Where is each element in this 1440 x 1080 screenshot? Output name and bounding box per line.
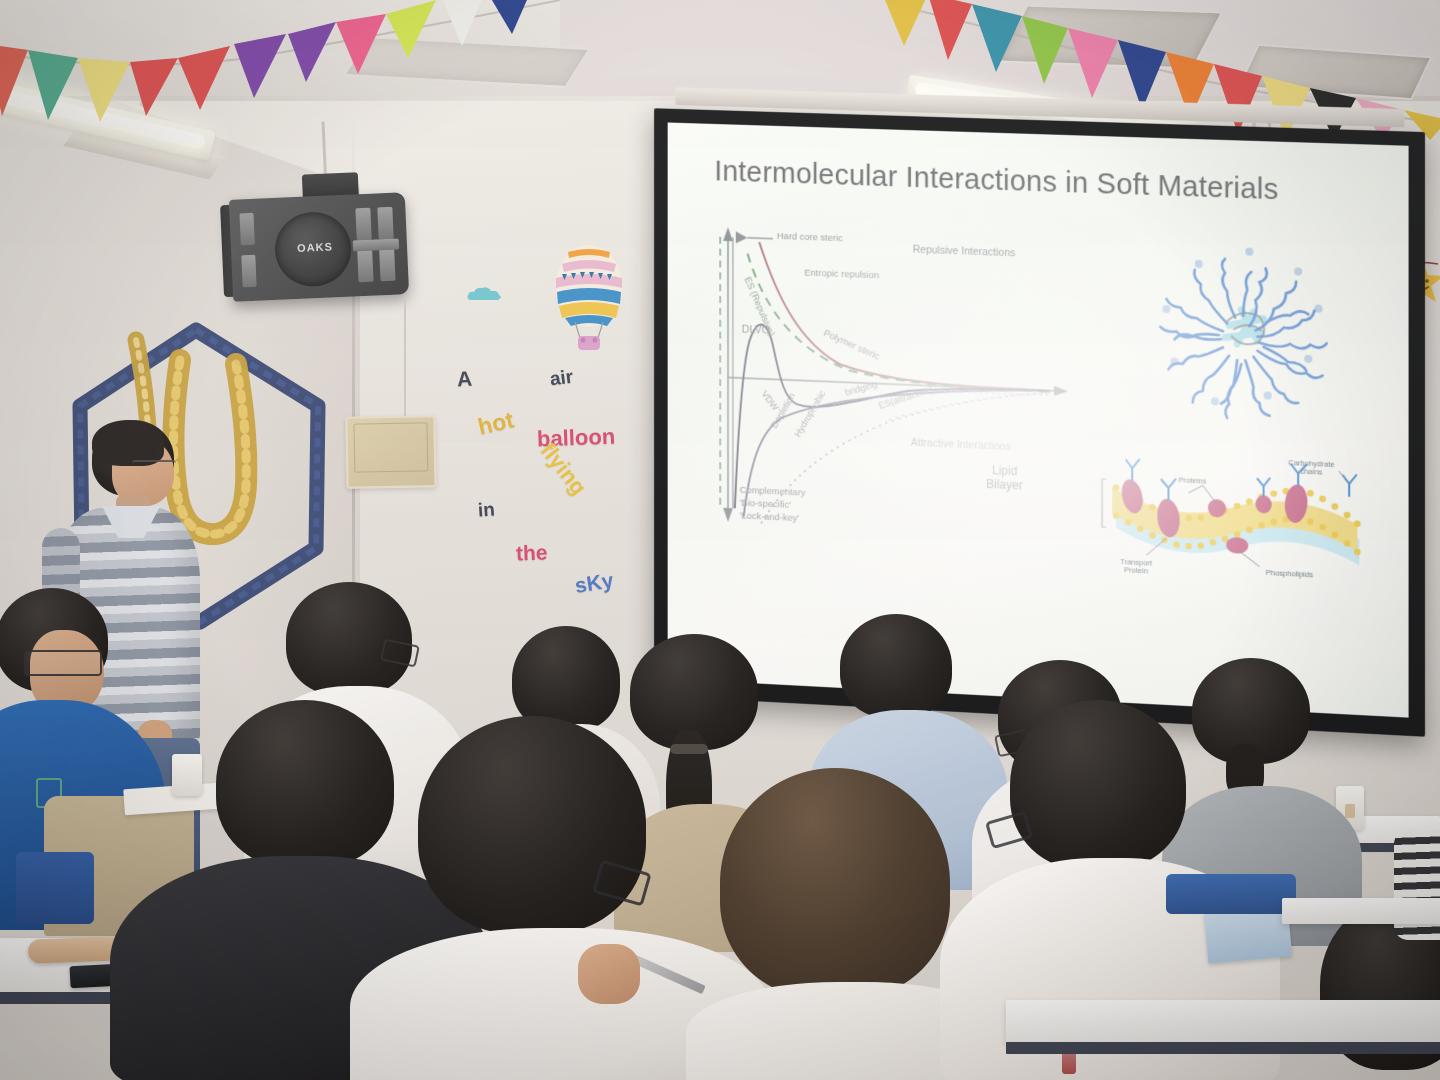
interaction-energy-chart: Hard core steric Repulsive Interactions … bbox=[703, 218, 1098, 583]
speaker-grille-bar bbox=[239, 213, 254, 246]
chart-label-complementary: Complementary 'Bio-specific' 'Lock-and-k… bbox=[740, 485, 806, 526]
chair-back-right bbox=[1166, 874, 1296, 914]
speaker-grille-bar bbox=[241, 255, 256, 288]
wall-word-the: the bbox=[516, 541, 548, 566]
bilayer-label-carbohydrate-chains: Carbohydrate chains bbox=[1284, 459, 1339, 478]
wall-access-panel bbox=[345, 415, 436, 489]
speaker-grille-bar bbox=[357, 250, 373, 283]
polymer-micelle-illustration bbox=[1144, 230, 1355, 436]
speaker-grille-crossbar bbox=[353, 239, 399, 252]
screen-surface: Intermolecular Interactions in Soft Mate… bbox=[668, 122, 1409, 717]
wall-word-in: in bbox=[477, 499, 495, 522]
speaker-grille-bar bbox=[355, 208, 371, 241]
glasses-icon bbox=[132, 460, 176, 472]
slide-title: Intermolecular Interactions in Soft Mate… bbox=[714, 156, 1278, 208]
speaker-grille-bar bbox=[377, 207, 393, 240]
ceiling-speaker: OAKS bbox=[229, 192, 409, 302]
hot-air-balloon-sticker bbox=[552, 244, 626, 352]
audience-hair bbox=[418, 716, 646, 934]
classroom-scene: OAKS bbox=[0, 0, 1440, 1080]
wall-cable bbox=[404, 300, 406, 420]
ceiling-vent-left bbox=[997, 5, 1224, 70]
desk-edge-front-right bbox=[1006, 1042, 1440, 1054]
audience-member-front-center bbox=[396, 716, 736, 1080]
speaker-brand-label: OAKS bbox=[289, 241, 341, 255]
speaker-grille-bar bbox=[379, 249, 395, 282]
bilayer-label-proteins: Proteins bbox=[1179, 476, 1207, 486]
chart-label-dlvo: DLVO bbox=[742, 324, 770, 337]
audience-hand bbox=[578, 944, 640, 1004]
chart-label-hard-core-steric: Hard core steric bbox=[777, 231, 843, 244]
wall-word-air: air bbox=[549, 367, 575, 392]
bilayer-label-bilayer: Bilayer bbox=[986, 478, 1023, 493]
wall-word-a: A bbox=[456, 368, 472, 393]
cloud-sticker bbox=[466, 286, 504, 303]
chair-back-left bbox=[16, 852, 94, 924]
audience-hair bbox=[286, 582, 412, 696]
glasses-icon bbox=[24, 650, 102, 676]
audience-hair bbox=[840, 614, 952, 718]
desk-front-right bbox=[1006, 1000, 1440, 1044]
audience-hair bbox=[1010, 700, 1186, 870]
audience-hair bbox=[720, 768, 950, 998]
desk-mid-right bbox=[1282, 898, 1440, 924]
bilayer-label-transport-protein: Transport Protein bbox=[1114, 558, 1158, 577]
audience-hair bbox=[216, 700, 394, 868]
